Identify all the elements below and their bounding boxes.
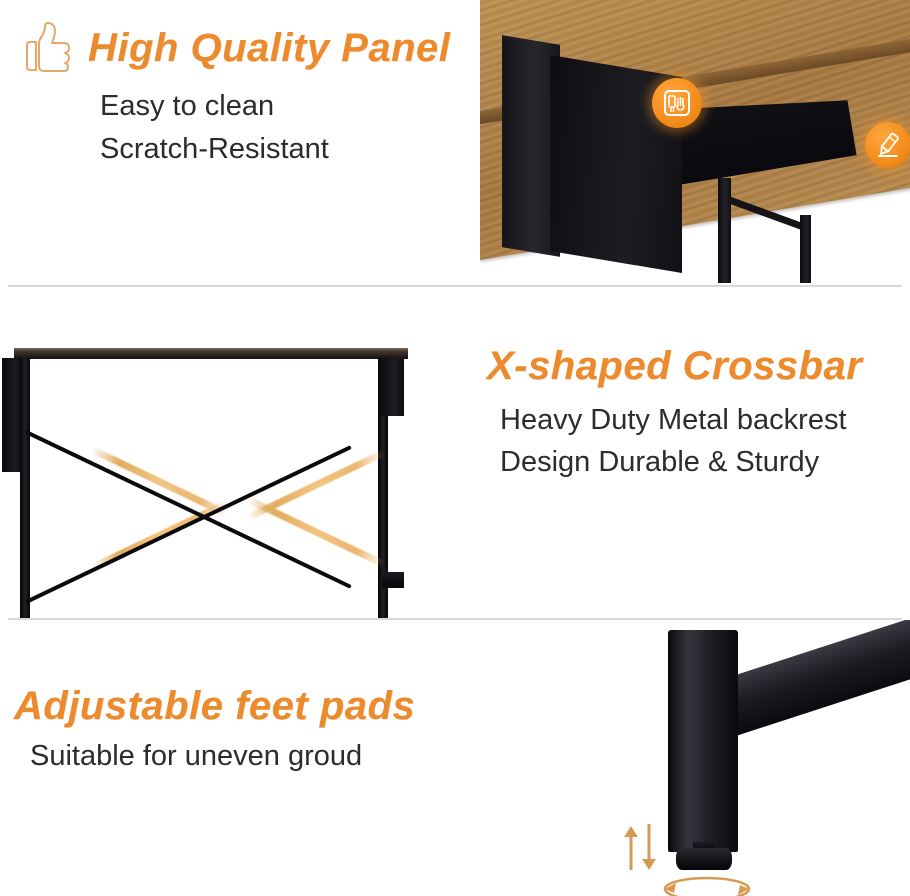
desk-leg-rear [800, 215, 811, 283]
section-2-line-2: Design Durable & Sturdy [500, 446, 819, 479]
frame-desktop-slab [14, 350, 408, 359]
rotation-arrow-icon [652, 872, 762, 896]
section-divider-1 [8, 285, 902, 287]
frame-leg-left [20, 358, 30, 618]
up-down-arrows-icon [618, 820, 664, 872]
crossbar-highlight-4 [246, 496, 384, 567]
section-1-line-1: Easy to clean [100, 90, 274, 123]
section-3-line-1: Suitable for uneven groud [30, 740, 362, 773]
adjustable-foot-pad [676, 848, 732, 870]
adjustable-foot-pad-render [560, 620, 910, 896]
frame-bracket-right [380, 358, 404, 416]
thumbs-up-icon [10, 20, 72, 76]
section-1-line-2: Scratch-Resistant [100, 133, 329, 166]
desk-frame-crossbar-diagram [0, 342, 430, 618]
crossbar-highlight-1 [90, 446, 228, 517]
frame-foot-stub-right [382, 572, 404, 588]
infographic-canvas: High Quality Panel Easy to clean Scratch… [0, 0, 910, 896]
wipe-clean-badge-icon [652, 78, 702, 128]
desk-leg-front [718, 178, 731, 283]
section-1-heading: High Quality Panel [88, 24, 450, 72]
section-3-heading: Adjustable feet pads [14, 682, 415, 730]
foot-render-leg [668, 630, 738, 852]
crossbar-diagonal-down [25, 430, 352, 589]
wood-desktop-render [480, 0, 910, 283]
section-2-line-1: Heavy Duty Metal backrest [500, 404, 847, 437]
section-2-heading: X-shaped Crossbar [487, 342, 862, 390]
foot-render-crossbar [716, 620, 910, 737]
scratch-pencil-badge-icon [865, 122, 910, 168]
